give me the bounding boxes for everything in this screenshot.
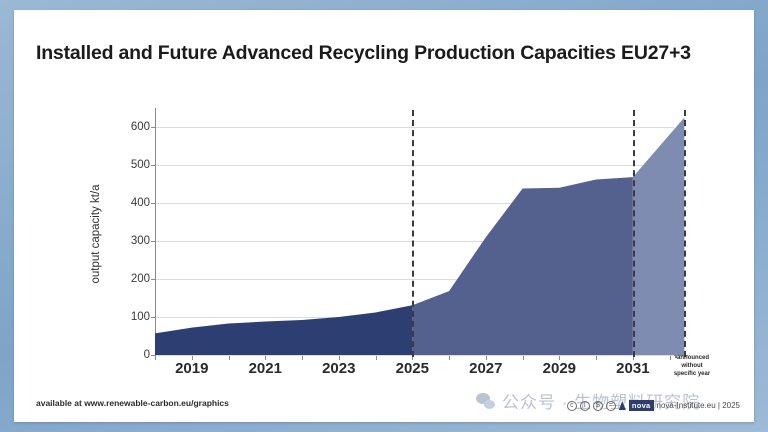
x-tick-mark xyxy=(559,356,560,360)
y-tick-label: 300 xyxy=(110,235,150,247)
y-tick-label: 600 xyxy=(110,121,150,133)
annotation-line: •announced xyxy=(664,354,720,362)
dashed-marker-2031 xyxy=(633,110,635,357)
x-tick-label: 2019 xyxy=(162,360,222,377)
x-tick-mark xyxy=(229,356,230,360)
annotation-line: without xyxy=(664,362,720,370)
y-tick-label: 400 xyxy=(110,197,150,209)
x-tick-label: 2027 xyxy=(456,360,516,377)
y-axis-label: output capacity kt/a xyxy=(90,144,102,324)
availability-note: available at www.renewable-carbon.eu/gra… xyxy=(36,398,229,408)
dashed-marker-2025 xyxy=(412,110,414,357)
nova-logo-icon xyxy=(619,401,626,410)
x-tick-mark xyxy=(302,356,303,360)
cc-icon-4: = xyxy=(606,401,616,411)
x-tick-mark xyxy=(596,356,597,360)
area-chart: output capacity kt/a 0100200300400500600… xyxy=(14,10,754,422)
x-tick-mark xyxy=(265,356,266,360)
x-tick-label: 2021 xyxy=(235,360,295,377)
annotation-line: specific year xyxy=(664,370,720,378)
dashed-marker-2032.4 xyxy=(684,110,686,357)
graphic-card: Installed and Future Advanced Recycling … xyxy=(14,10,754,422)
nova-logo-label: nova xyxy=(629,400,654,411)
x-tick-mark xyxy=(192,356,193,360)
y-tick-label: 200 xyxy=(110,273,150,285)
y-tick-label: 0 xyxy=(110,349,150,361)
area-segment-announced-with-year xyxy=(412,177,633,355)
x-tick-mark xyxy=(155,356,156,360)
credit-text: nova-Institute.eu | 2025 xyxy=(657,401,740,410)
y-tick-label: 500 xyxy=(110,159,150,171)
x-tick-label: 2031 xyxy=(603,360,663,377)
cc-icon-2: i xyxy=(580,401,590,411)
cc-icon-3: $ xyxy=(593,401,603,411)
x-tick-mark xyxy=(339,356,340,360)
announced-without-year-label: •announcedwithoutspecific year xyxy=(664,354,720,378)
credit-block: c i $ = nova nova-Institute.eu | 2025 xyxy=(567,400,740,411)
x-tick-label: 2023 xyxy=(309,360,369,377)
x-tick-label: 2029 xyxy=(529,360,589,377)
cc-icon-1: c xyxy=(567,401,577,411)
x-tick-mark xyxy=(523,356,524,360)
area-segment-announced-without-specific-year xyxy=(633,118,684,356)
x-tick-mark xyxy=(486,356,487,360)
chart-plot-area xyxy=(155,108,688,356)
y-tick-label: 100 xyxy=(110,311,150,323)
x-tick-mark xyxy=(449,356,450,360)
page-background: Installed and Future Advanced Recycling … xyxy=(0,0,768,432)
area-segment-installed xyxy=(155,305,412,355)
x-tick-label: 2025 xyxy=(382,360,442,377)
x-tick-mark xyxy=(376,356,377,360)
